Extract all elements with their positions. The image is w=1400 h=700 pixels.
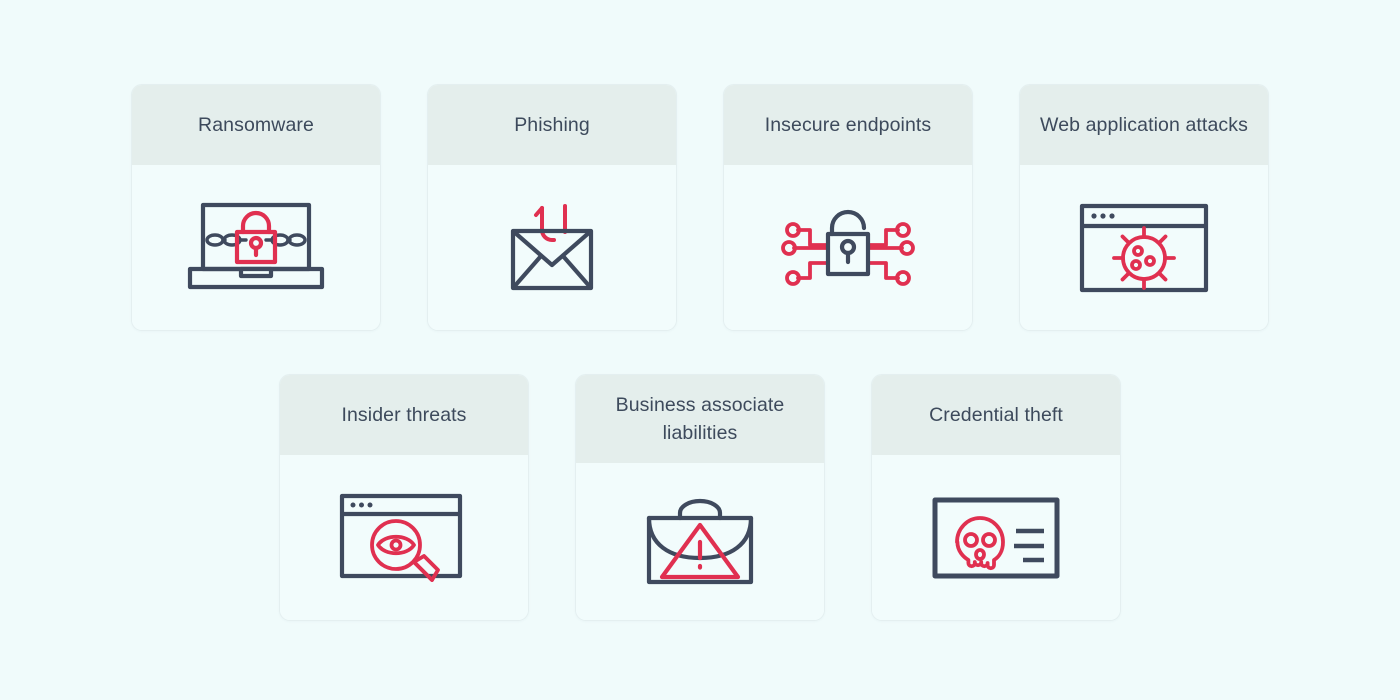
- card-title: Insecure endpoints: [765, 111, 932, 139]
- card-header: Ransomware: [132, 85, 380, 165]
- threat-cards-board: Ransomware: [0, 0, 1400, 700]
- card-body: [576, 463, 824, 620]
- threat-card-business-associate-liabilities[interactable]: Business associate liabilities: [575, 374, 825, 621]
- browser-eye-magnifier-icon: [280, 455, 528, 620]
- card-body: [872, 455, 1120, 620]
- card-header: Business associate liabilities: [576, 375, 824, 463]
- card-body: [1020, 165, 1268, 330]
- envelope-fishing-hook-icon: [428, 165, 676, 330]
- id-card-skull-icon: [872, 455, 1120, 620]
- card-title: Insider threats: [341, 401, 466, 429]
- threat-card-phishing[interactable]: Phishing: [427, 84, 677, 331]
- card-title: Business associate liabilities: [590, 391, 810, 447]
- open-padlock-circuit-icon: [724, 165, 972, 330]
- card-title: Credential theft: [929, 401, 1063, 429]
- browser-virus-icon: [1020, 165, 1268, 330]
- threat-card-ransomware[interactable]: Ransomware: [131, 84, 381, 331]
- card-title: Web application attacks: [1040, 111, 1248, 139]
- card-title: Phishing: [514, 111, 590, 139]
- threat-card-insider-threats[interactable]: Insider threats: [279, 374, 529, 621]
- card-body: [280, 455, 528, 620]
- card-header: Phishing: [428, 85, 676, 165]
- card-row-1: Ransomware: [0, 84, 1400, 331]
- threat-card-web-application-attacks[interactable]: Web application attacks: [1019, 84, 1269, 331]
- card-header: Insecure endpoints: [724, 85, 972, 165]
- card-header: Web application attacks: [1020, 85, 1268, 165]
- threat-card-credential-theft[interactable]: Credential theft: [871, 374, 1121, 621]
- card-body: [428, 165, 676, 330]
- card-title: Ransomware: [198, 111, 314, 139]
- card-body: [132, 165, 380, 330]
- card-row-2: Insider threats: [0, 374, 1400, 621]
- card-header: Insider threats: [280, 375, 528, 455]
- threat-card-insecure-endpoints[interactable]: Insecure endpoints: [723, 84, 973, 331]
- briefcase-warning-icon: [576, 463, 824, 620]
- card-body: [724, 165, 972, 330]
- card-header: Credential theft: [872, 375, 1120, 455]
- laptop-lock-chain-icon: [132, 165, 380, 330]
